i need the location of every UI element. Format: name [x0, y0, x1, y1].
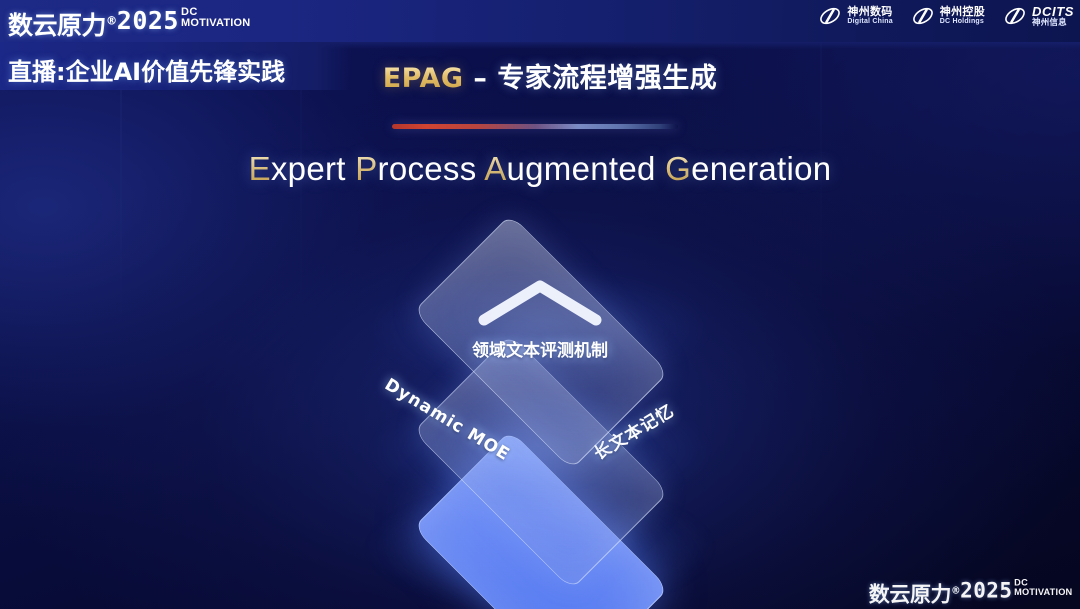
logo-name-en: DC Holdings	[940, 18, 985, 25]
title-chinese: 专家流程增强生成	[497, 63, 717, 94]
event-logo-brand-cn: 数云原力®	[868, 578, 959, 608]
logo-digital-china: 神州数码 Digital China	[818, 4, 892, 28]
subtitle-cap-a: A	[484, 150, 506, 187]
subtitle-cap-e: E	[249, 150, 271, 187]
logo-dcits: DCITS 神州信息	[1003, 4, 1074, 28]
subtitle-word-expert: xpert	[271, 150, 346, 187]
event-logo-dc-motivation: DC MOTIVATION	[1014, 579, 1072, 597]
logo-text: 神州控股 DC Holdings	[940, 7, 985, 26]
event-logo: 数云原力® 2025 DC MOTIVATION	[8, 6, 250, 42]
corporate-logo-group: 神州数码 Digital China 神州控股 DC Holdings	[818, 4, 1074, 28]
logo-name-en: 神州信息	[1032, 18, 1074, 27]
registered-mark: ®	[951, 585, 960, 596]
logo-name-cn: 神州数码	[847, 7, 892, 19]
swoosh-logo-icon	[818, 4, 842, 28]
logo-name-cn: 神州控股	[940, 7, 985, 19]
logo-dc-holdings: 神州控股 DC Holdings	[911, 4, 985, 28]
subtitle-word-process: rocess	[378, 150, 477, 187]
event-logo-year: 2025	[960, 578, 1012, 602]
event-logo-motivation: MOTIVATION	[1014, 588, 1072, 597]
subtitle: Expert Process Augmented Generation	[0, 150, 1080, 188]
page-title: EPAG – 专家流程增强生成	[10, 56, 1080, 95]
logo-name-en: Digital China	[847, 18, 892, 25]
subtitle-cap-p: P	[355, 150, 377, 187]
layered-stack-diagram: 三类语义建模模块 Dynamic MOE 长文本记忆 领域文本评测机制	[0, 228, 1080, 588]
stack-label-top: 领域文本评测机制	[472, 336, 608, 361]
gradient-divider	[392, 124, 678, 129]
event-logo-year: 2025	[117, 6, 179, 35]
slide-canvas: 数云原力® 2025 DC MOTIVATION 直播:企业AI价值先锋实践 神…	[0, 0, 1080, 609]
subtitle-cap-g: G	[665, 150, 691, 187]
swoosh-logo-icon	[1003, 4, 1027, 28]
event-logo-watermark: 数云原力® 2025 DC MOTIVATION	[868, 578, 1072, 608]
logo-text: DCITS 神州信息	[1032, 5, 1074, 28]
logo-name-cn: DCITS	[1032, 5, 1074, 19]
title-acronym: EPAG	[383, 63, 464, 94]
logo-text: 神州数码 Digital China	[847, 7, 892, 26]
swoosh-logo-icon	[911, 4, 935, 28]
title-separator: –	[464, 63, 498, 94]
subtitle-word-augmented: ugmented	[507, 150, 656, 187]
subtitle-word-generation: eneration	[691, 150, 831, 187]
registered-mark: ®	[106, 15, 117, 28]
event-logo-brand-cn: 数云原力®	[8, 6, 117, 42]
chevron-up-icon	[474, 272, 606, 337]
event-logo-motivation: MOTIVATION	[181, 18, 250, 29]
event-logo-dc-motivation: DC MOTIVATION	[181, 7, 250, 29]
